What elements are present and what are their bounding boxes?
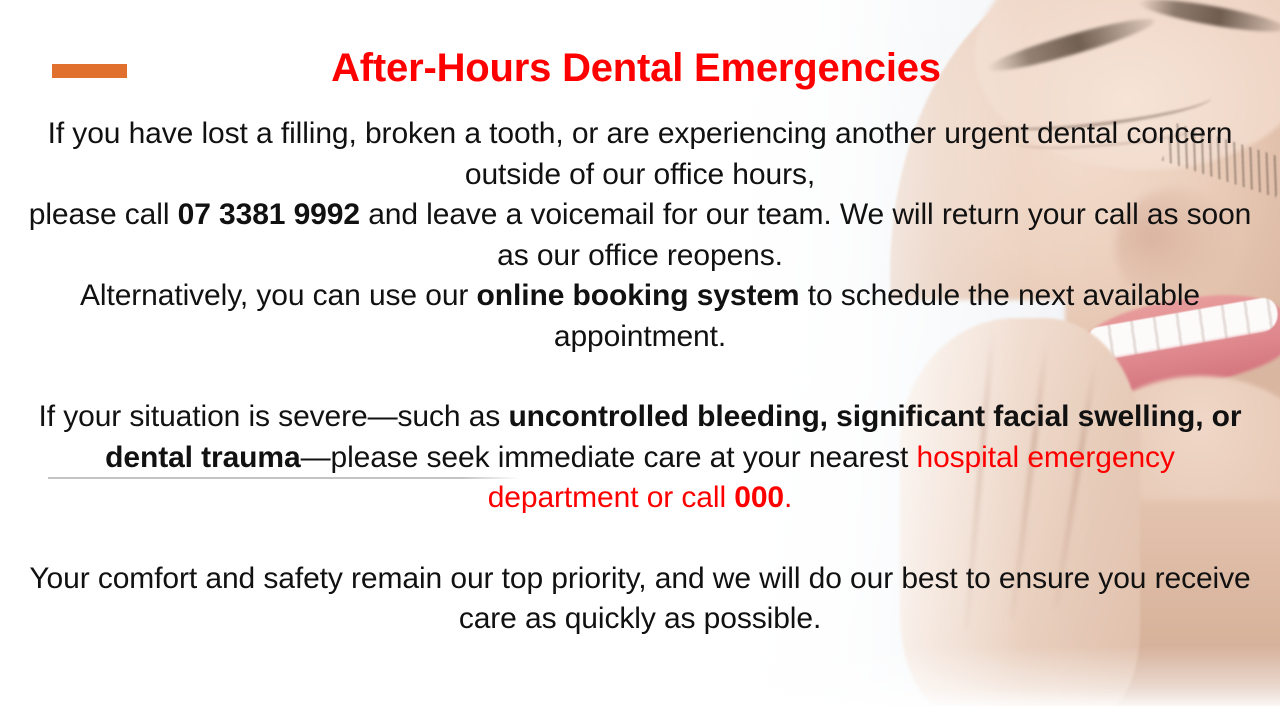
paragraph-2: If your situation is severe—such as unco… [28, 397, 1252, 519]
severe-prefix: If your situation is severe—such as [39, 400, 509, 433]
paragraph-spacer-1 [28, 357, 1252, 397]
intro-sentence: If you have lost a filling, broken a too… [48, 117, 1233, 191]
body-text-block: If you have lost a filling, broken a too… [28, 114, 1252, 640]
slide-canvas: After-Hours Dental Emergencies If you ha… [0, 0, 1280, 720]
paragraph-1: If you have lost a filling, broken a too… [28, 114, 1252, 357]
page-title: After-Hours Dental Emergencies [0, 44, 1280, 92]
call-suffix: and leave a voicemail for our team. We w… [360, 198, 1251, 272]
online-booking-system-link[interactable]: online booking system [477, 279, 800, 312]
paragraph-3: Your comfort and safety remain our top p… [28, 559, 1252, 640]
emergency-period: . [784, 481, 792, 514]
booking-prefix: Alternatively, you can use our [80, 279, 477, 312]
paragraph-spacer-2 [28, 519, 1252, 559]
emergency-number[interactable]: 000 [734, 481, 784, 514]
severe-middle: —please seek immediate care at your near… [301, 441, 917, 474]
call-prefix: please call [29, 198, 178, 231]
slide-content: After-Hours Dental Emergencies If you ha… [0, 0, 1280, 720]
phone-number[interactable]: 07 3381 9992 [178, 198, 360, 231]
